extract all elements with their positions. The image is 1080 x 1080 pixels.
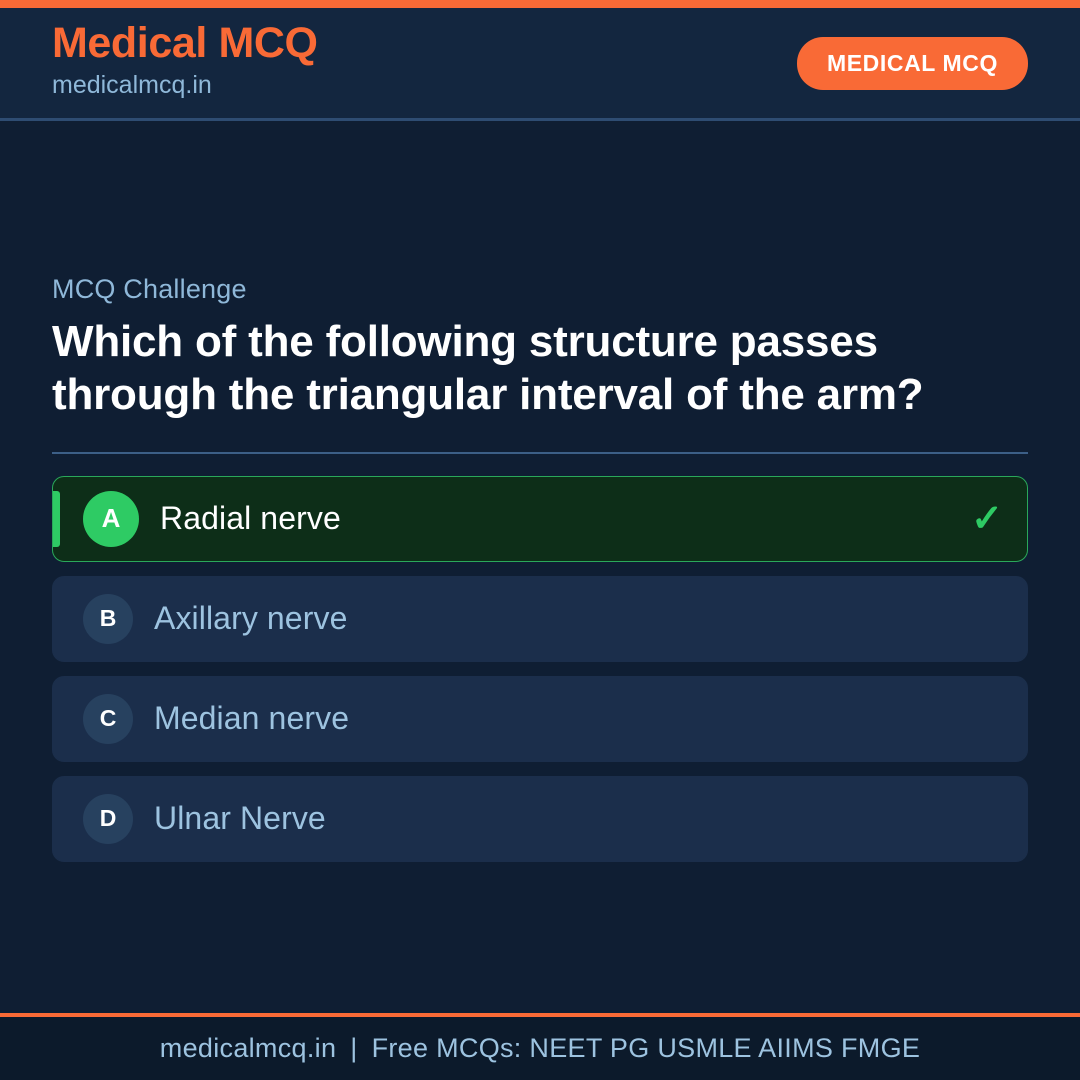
option-d-letter-badge: D — [83, 794, 133, 844]
page-footer: medicalmcq.in|Free MCQs: NEET PG USMLE A… — [0, 1013, 1080, 1080]
brand: Medical MCQ medicalmcq.in — [52, 21, 318, 101]
option-a-label: Radial nerve — [160, 501, 341, 536]
option-d[interactable]: D Ulnar Nerve — [52, 776, 1028, 862]
brand-subtitle: medicalmcq.in — [52, 69, 318, 102]
main-content: MCQ Challenge Which of the following str… — [0, 121, 1080, 1013]
footer-site: medicalmcq.in — [160, 1033, 336, 1063]
footer-links-label: Free MCQs: NEET PG USMLE AIIMS FMGE — [372, 1033, 921, 1063]
option-a[interactable]: A Radial nerve ✓ — [52, 476, 1028, 562]
option-c-letter-badge: C — [83, 694, 133, 744]
brand-title: Medical MCQ — [52, 21, 318, 66]
question-block: MCQ Challenge Which of the following str… — [52, 273, 1028, 422]
option-c-label: Median nerve — [154, 701, 349, 736]
option-d-label: Ulnar Nerve — [154, 801, 326, 836]
question-kicker: MCQ Challenge — [52, 273, 1028, 305]
option-a-letter-badge: A — [83, 491, 139, 547]
question-text: Which of the following structure passes … — [52, 316, 1012, 422]
options-list: A Radial nerve ✓ B Axillary nerve C Medi… — [52, 476, 1028, 862]
footer-separator: | — [336, 1033, 371, 1063]
mcq-card: Medical MCQ medicalmcq.in MEDICAL MCQ MC… — [0, 0, 1080, 1080]
footer-text: medicalmcq.in|Free MCQs: NEET PG USMLE A… — [160, 1033, 920, 1064]
top-accent-strip — [0, 0, 1080, 8]
option-b[interactable]: B Axillary nerve — [52, 576, 1028, 662]
correct-check-icon: ✓ — [971, 500, 1003, 538]
question-divider — [52, 452, 1028, 454]
header-badge: MEDICAL MCQ — [797, 37, 1028, 90]
page-header: Medical MCQ medicalmcq.in MEDICAL MCQ — [0, 8, 1080, 121]
option-b-letter-badge: B — [83, 594, 133, 644]
option-c[interactable]: C Median nerve — [52, 676, 1028, 762]
option-b-label: Axillary nerve — [154, 601, 347, 636]
